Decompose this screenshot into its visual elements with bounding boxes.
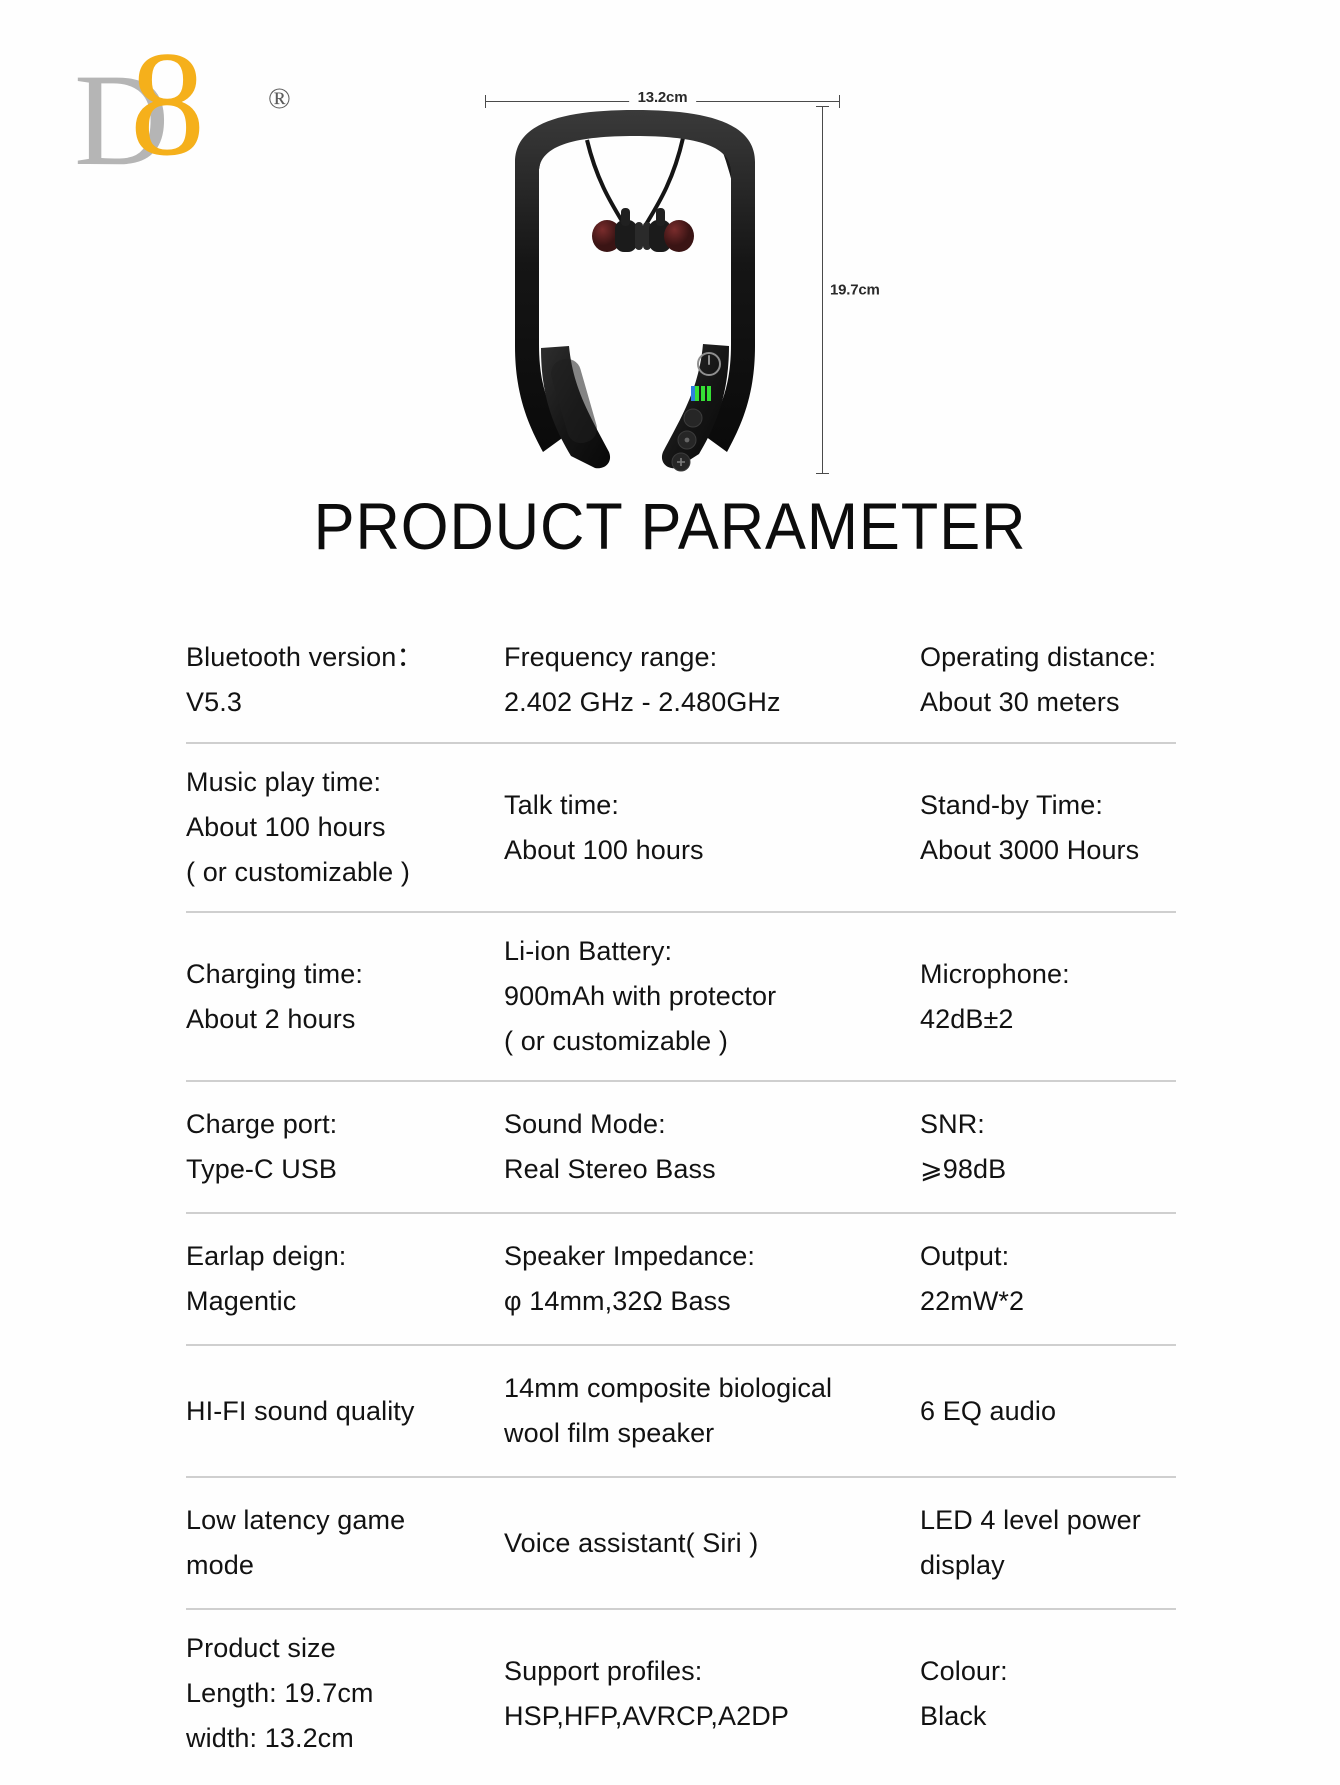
svg-text:8: 8 [130, 36, 205, 186]
product-image-block: 13.2cm 19.7cm [455, 72, 885, 472]
height-dimension-line [822, 106, 823, 474]
spec-cell-charge-port: Charge port: Type-C USB [186, 1102, 486, 1192]
spec-cell-output: Output: 22mW*2 [906, 1234, 1176, 1324]
spec-cell-microphone: Microphone: 42dB±2 [906, 952, 1176, 1042]
specifications-table: Bluetooth version： V5.3 Frequency range:… [186, 630, 1176, 1777]
height-dimension-cap-top [816, 106, 829, 107]
d8-logo-icon: D 8 [72, 36, 292, 186]
table-row: Bluetooth version： V5.3 Frequency range:… [186, 630, 1176, 742]
table-row: Earlap deign: Magentic Speaker Impedance… [186, 1212, 1176, 1344]
spec-cell-colour: Colour: Black [906, 1649, 1176, 1739]
table-row: Product size Length: 19.7cm width: 13.2c… [186, 1608, 1176, 1777]
spec-cell-talk-time: Talk time: About 100 hours [486, 783, 906, 873]
page-title: PRODUCT PARAMETER [47, 488, 1293, 564]
table-row: Charging time: About 2 hours Li-ion Batt… [186, 911, 1176, 1080]
spec-cell-voice-assistant: Voice assistant( Siri ) [486, 1521, 906, 1566]
table-row: Charge port: Type-C USB Sound Mode: Real… [186, 1080, 1176, 1212]
spec-cell-bluetooth-version: Bluetooth version： V5.3 [186, 635, 486, 725]
spec-cell-speaker-impedance: Speaker Impedance: φ 14mm,32Ω Bass [486, 1234, 906, 1324]
height-dimension-callout: 19.7cm [813, 106, 893, 474]
spec-cell-speaker-material: 14mm composite biological wool film spea… [486, 1366, 906, 1456]
spec-cell-charging-time: Charging time: About 2 hours [186, 952, 486, 1042]
spec-cell-hifi-sound-quality: HI-FI sound quality [186, 1389, 486, 1434]
table-row: HI-FI sound quality 14mm composite biolo… [186, 1344, 1176, 1476]
product-parameter-sheet: D 8 ® 13.2cm 19.7cm [0, 0, 1340, 1785]
spec-cell-operating-distance: Operating distance: About 30 meters [906, 635, 1176, 725]
spec-cell-support-profiles: Support profiles: HSP,HFP,AVRCP,A2DP [486, 1649, 906, 1739]
spec-cell-standby-time: Stand-by Time: About 3000 Hours [906, 783, 1176, 873]
registered-trademark-icon: ® [268, 82, 291, 116]
spec-cell-battery: Li-ion Battery: 900mAh with protector ( … [486, 929, 906, 1064]
spec-cell-music-play-time: Music play time: About 100 hours ( or cu… [186, 760, 486, 895]
height-dimension-cap-bottom [816, 473, 829, 474]
table-row: Music play time: About 100 hours ( or cu… [186, 742, 1176, 911]
spec-cell-earlap-design: Earlap deign: Magentic [186, 1234, 486, 1324]
spec-cell-frequency-range: Frequency range: 2.402 GHz - 2.480GHz [486, 635, 906, 725]
table-row: Low latency game mode Voice assistant( S… [186, 1476, 1176, 1608]
spec-cell-eq-audio: 6 EQ audio [906, 1389, 1176, 1434]
height-dimension-label: 19.7cm [830, 278, 880, 303]
spec-cell-game-mode: Low latency game mode [186, 1498, 486, 1588]
spec-cell-led-power-display: LED 4 level power display [906, 1498, 1176, 1588]
spec-cell-sound-mode: Sound Mode: Real Stereo Bass [486, 1102, 906, 1192]
spec-cell-product-size: Product size Length: 19.7cm width: 13.2c… [186, 1626, 486, 1761]
brand-logo: D 8 ® [72, 36, 292, 186]
neckband-headphones-illustration [455, 96, 815, 476]
spec-cell-snr: SNR: ⩾98dB [906, 1102, 1176, 1192]
